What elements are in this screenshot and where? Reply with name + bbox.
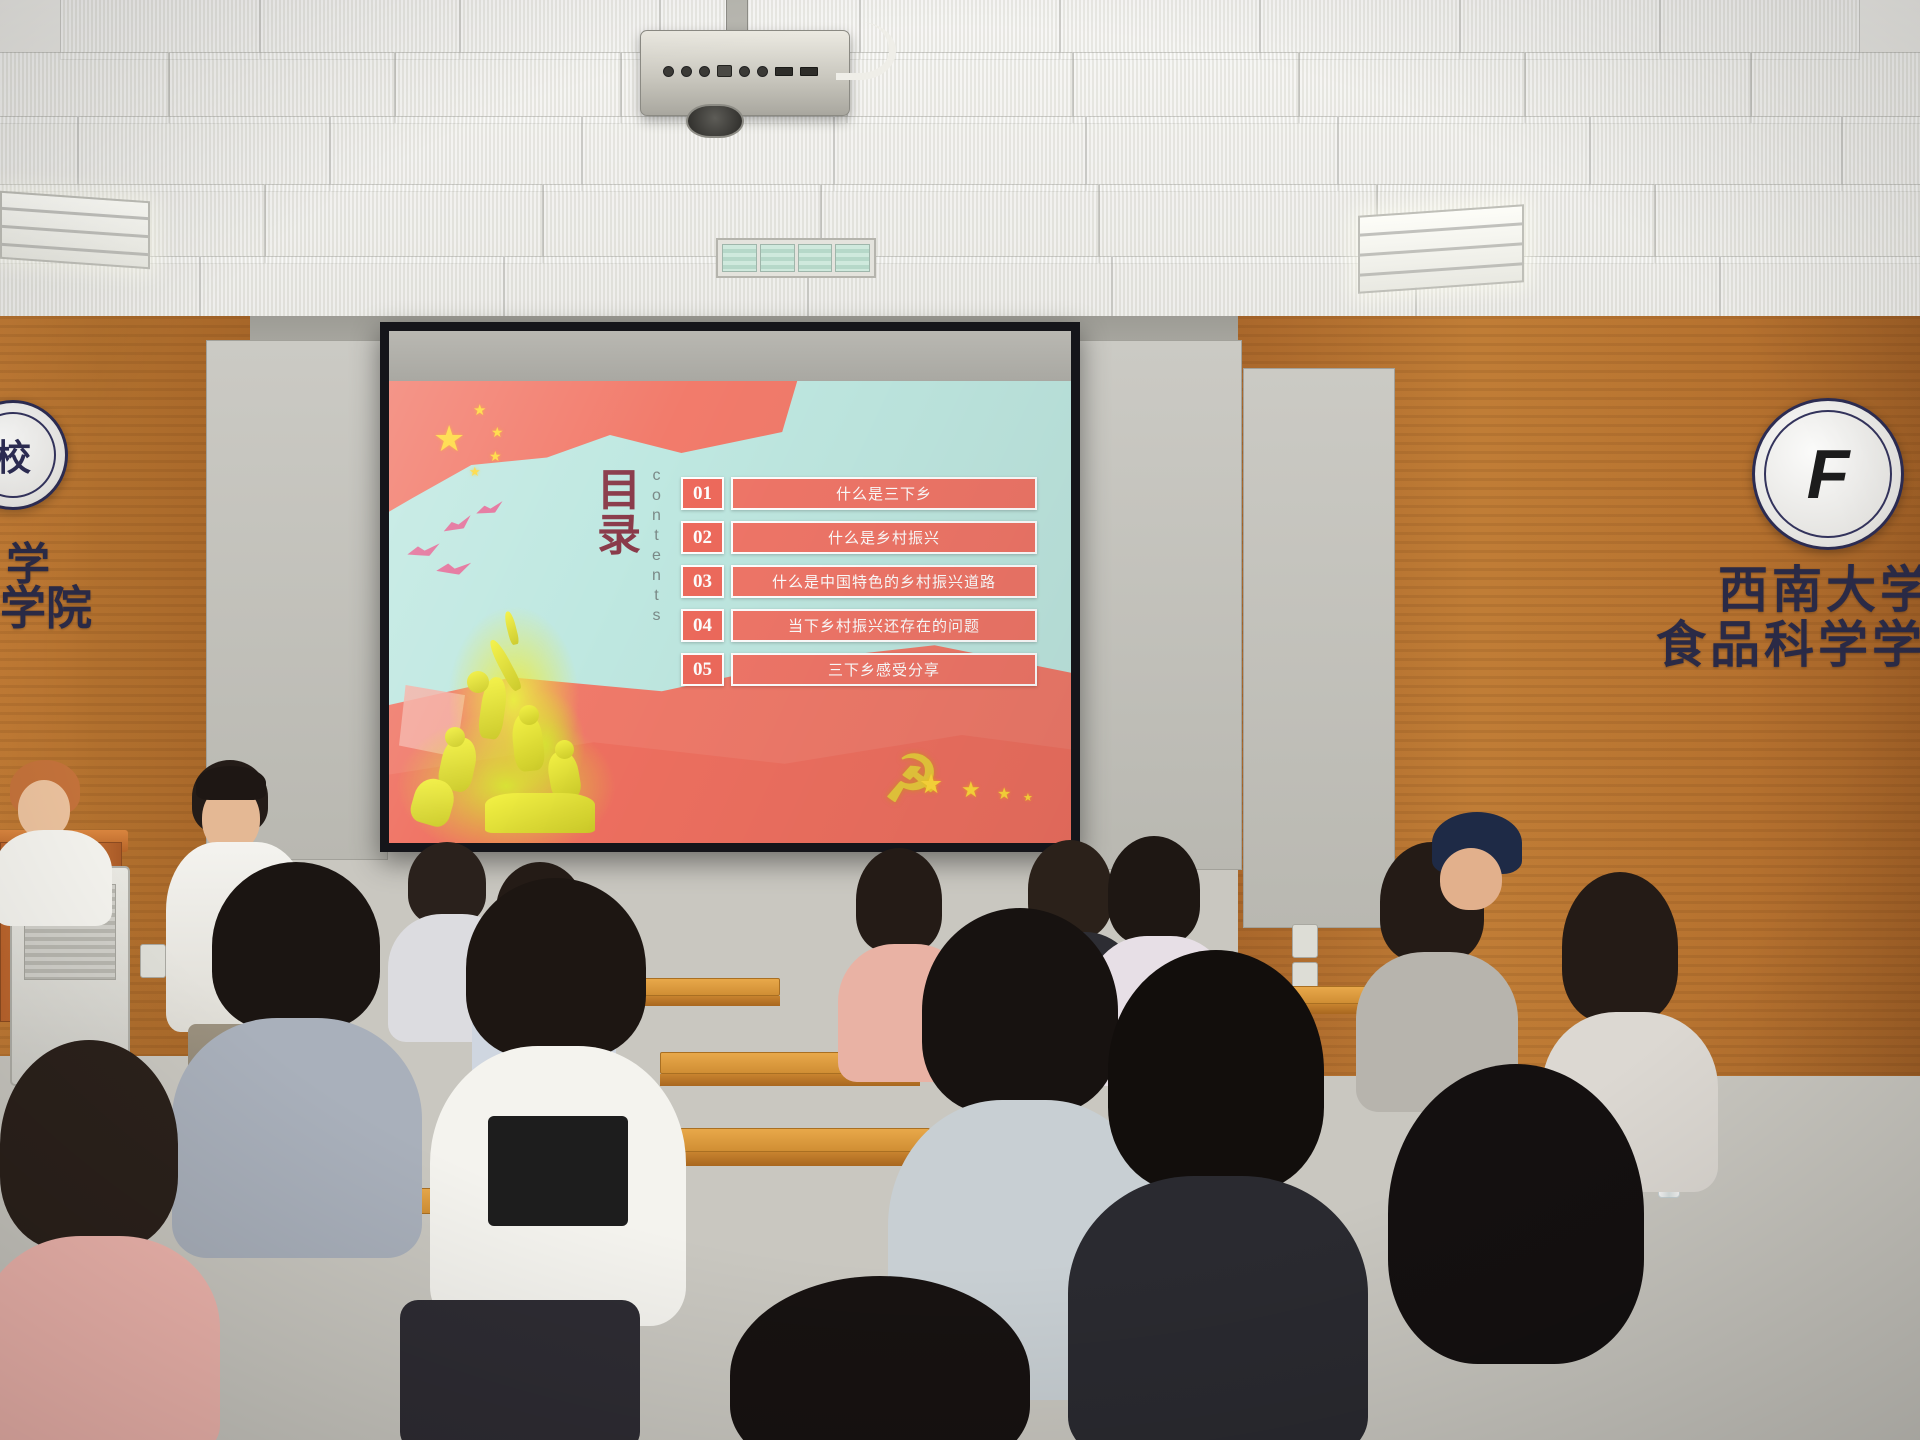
star-icon-1: ★ xyxy=(473,403,486,418)
star-icon-3: ★ xyxy=(489,449,502,463)
audience-hair xyxy=(408,842,486,924)
audience-head xyxy=(1440,848,1502,910)
audience-hair xyxy=(1108,836,1200,944)
presentation-slide: ★ ★ ★ ★ ★ xyxy=(389,381,1071,843)
tshirt-graphic xyxy=(488,1116,628,1226)
wall-text-left-line2: 学院 xyxy=(0,572,92,638)
projection-screen: ★ ★ ★ ★ ★ xyxy=(380,322,1080,852)
toc-title-en: contents xyxy=(647,467,665,627)
ceiling-tile xyxy=(60,0,260,60)
projector-body xyxy=(640,30,850,116)
ceiling-projector xyxy=(640,18,850,138)
wall-text-right-line2: 食品科学学院 xyxy=(1656,605,1920,677)
ceiling-tile xyxy=(1338,116,1590,192)
ceiling-tile xyxy=(395,52,621,124)
ceiling-tile xyxy=(169,52,395,124)
star-icon-b4: ★ xyxy=(1023,793,1033,804)
toc-number: 01 xyxy=(681,477,724,510)
toc-row[interactable]: 01 什么是三下乡 xyxy=(681,477,1037,510)
ceiling-tile xyxy=(834,116,1086,192)
audience-hair xyxy=(466,878,646,1058)
star-icon-big: ★ xyxy=(433,421,465,457)
ceiling-tile xyxy=(1525,52,1751,124)
toc-row[interactable]: 02 什么是乡村振兴 xyxy=(681,521,1037,554)
toc-label: 什么是乡村振兴 xyxy=(731,521,1037,554)
bottom-stars-group: ★ ★ ★ ★ xyxy=(919,769,1049,809)
star-icon-4: ★ xyxy=(469,465,481,478)
audience-shirt xyxy=(172,1018,422,1258)
flag-stars-group: ★ ★ ★ ★ ★ xyxy=(433,399,543,479)
audience-hair xyxy=(856,848,942,952)
wall-outlet-right-1[interactable] xyxy=(1292,924,1318,958)
ceiling-tile xyxy=(1460,0,1660,60)
ceiling-tile xyxy=(78,116,330,192)
ceiling-light-panel-right xyxy=(1358,204,1524,294)
audience-hair xyxy=(922,908,1118,1114)
toc-row[interactable]: 05 三下乡感受分享 xyxy=(681,653,1037,686)
projector-mount xyxy=(726,0,748,32)
presenter-fringe xyxy=(196,766,266,800)
toc-number: 04 xyxy=(681,609,724,642)
ceiling-tile xyxy=(260,0,460,60)
ceiling-tile xyxy=(1590,116,1842,192)
ceiling-tile xyxy=(1655,184,1920,264)
university-emblem-right: F xyxy=(1752,398,1904,550)
ceiling-tile xyxy=(460,0,660,60)
screen-blank-strip xyxy=(389,331,1071,381)
projector-lens xyxy=(686,104,744,138)
toc-row[interactable]: 04 当下乡村振兴还存在的问题 xyxy=(681,609,1037,642)
ceiling-tile xyxy=(1260,0,1460,60)
star-icon-b2: ★ xyxy=(961,779,981,801)
audience-backpack xyxy=(400,1300,640,1440)
ceiling-tile xyxy=(1751,52,1920,124)
audience-hair xyxy=(212,862,380,1030)
doves-group xyxy=(407,501,537,581)
ceiling-tile xyxy=(1299,52,1525,124)
ceiling-tile xyxy=(1060,0,1260,60)
ceiling-tile xyxy=(1099,184,1377,264)
audience-shirt xyxy=(0,1236,220,1440)
ceiling-tile xyxy=(1842,116,1920,192)
classroom-scene: 校 学 学院 F 西南大学 食品科学学院 ★ ★ ★ ★ ★ xyxy=(0,0,1920,1440)
audience-hair xyxy=(1388,1064,1644,1364)
toc-number: 02 xyxy=(681,521,724,554)
ceiling-tile xyxy=(0,52,169,124)
wall-panel-gray-center xyxy=(1072,340,1242,870)
toc-row[interactable]: 03 什么是中国特色的乡村振兴道路 xyxy=(681,565,1037,598)
ceiling-tile xyxy=(265,184,543,264)
toc-title-cn-wrap: 目录 xyxy=(597,469,641,559)
wall-panel-gray-right xyxy=(1243,368,1395,928)
star-icon-b3: ★ xyxy=(997,787,1011,803)
dove-icon-3 xyxy=(475,499,506,518)
toc-number: 03 xyxy=(681,565,724,598)
ceiling-tile xyxy=(0,116,78,192)
dove-icon-2 xyxy=(442,513,475,537)
ceiling-tile xyxy=(330,116,582,192)
audience-shirt xyxy=(1068,1176,1368,1440)
toc-number: 05 xyxy=(681,653,724,686)
toc-label: 当下乡村振兴还存在的问题 xyxy=(731,609,1037,642)
toc-label: 什么是三下乡 xyxy=(731,477,1037,510)
star-icon-2: ★ xyxy=(491,425,504,439)
desk-row-4 xyxy=(680,1128,930,1152)
toc-label: 三下乡感受分享 xyxy=(731,653,1037,686)
toc-title-cn: 目录 xyxy=(597,469,641,559)
ceiling-tile xyxy=(1660,0,1860,60)
projector-ports xyxy=(663,65,818,77)
audience-hair xyxy=(1562,872,1678,1022)
dove-icon-1 xyxy=(406,541,442,561)
ceiling-light-panel-left xyxy=(0,191,150,269)
ceiling-tile xyxy=(1073,52,1299,124)
monument-statue-illustration xyxy=(389,583,649,843)
ceiling-tile xyxy=(1086,116,1338,192)
audience-shirt xyxy=(0,830,112,926)
audience-hair xyxy=(1108,950,1324,1192)
toc-label: 什么是中国特色的乡村振兴道路 xyxy=(731,565,1037,598)
star-icon-b1: ★ xyxy=(919,771,943,798)
audience-member-podium xyxy=(0,760,110,890)
dove-icon-4 xyxy=(435,560,472,577)
ceiling-air-vent xyxy=(716,238,876,278)
desk-row-4-side xyxy=(680,1152,930,1166)
audience-hair xyxy=(0,1040,178,1250)
toc-list: 01 什么是三下乡 02 什么是乡村振兴 03 什么是中国特色的乡村振兴道路 0… xyxy=(681,477,1037,697)
